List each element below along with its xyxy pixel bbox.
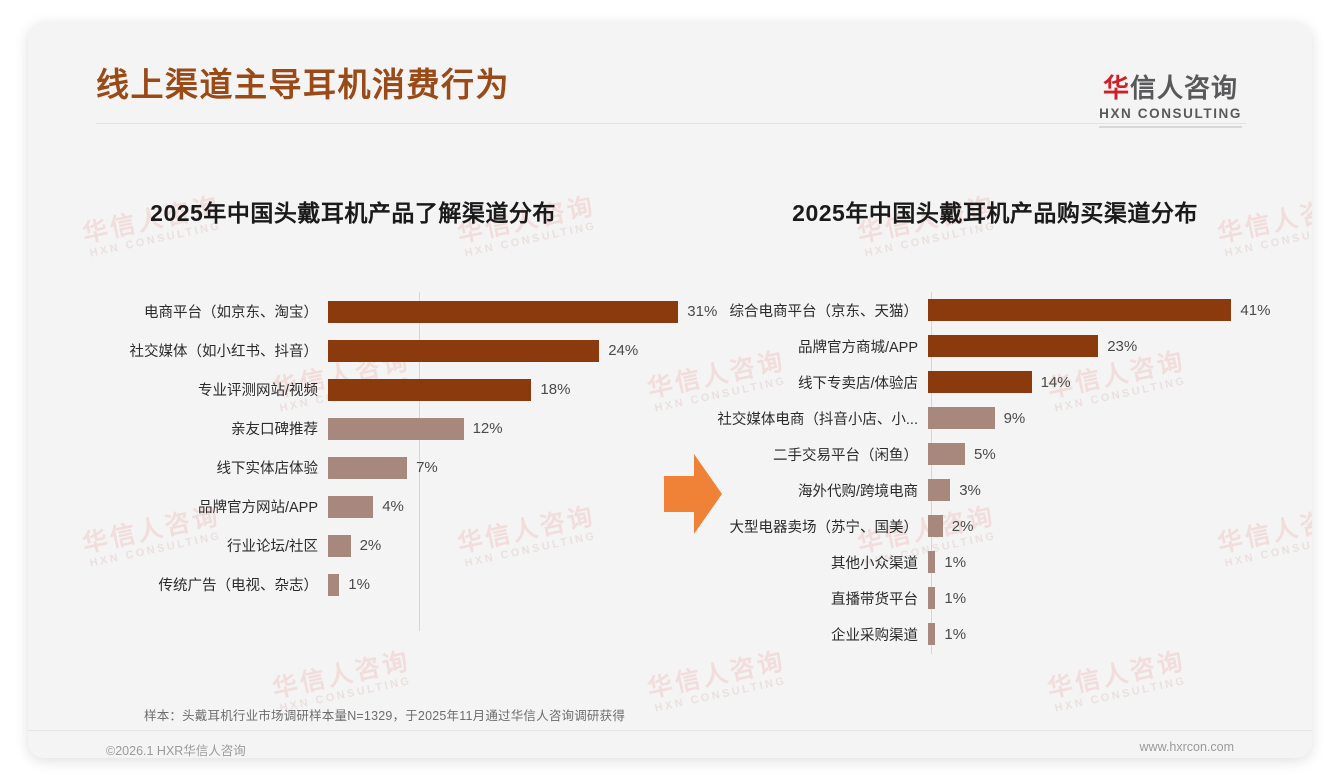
- sample-footnote: 样本：头戴耳机行业市场调研样本量N=1329，于2025年11月通过华信人咨询调…: [144, 705, 625, 724]
- chart-bar-row: 行业论坛/社区2%: [113, 526, 673, 565]
- bar: [928, 623, 935, 645]
- bar: [928, 515, 943, 537]
- bar-track: 1%: [928, 623, 1298, 645]
- bar: [928, 299, 1231, 321]
- slide-header: 线上渠道主导耳机消费行为 华信人咨询 HXN CONSULTING: [28, 22, 1312, 122]
- orange-right-arrow-icon: [664, 452, 722, 536]
- bar-value-label: 2%: [351, 537, 382, 554]
- bar-value-label: 1%: [935, 554, 966, 571]
- bar-value-label: 1%: [935, 590, 966, 607]
- bar: [928, 371, 1032, 393]
- bar-category-label: 综合电商平台（京东、天猫）: [678, 300, 928, 321]
- bar-track: 1%: [928, 587, 1298, 609]
- bar-category-label: 专业评测网站/视频: [113, 379, 328, 400]
- logo-accent-char: 华: [1103, 73, 1130, 103]
- bar: [328, 340, 599, 362]
- logo-chinese-text: 华信人咨询: [1099, 74, 1242, 104]
- bar-category-label: 行业论坛/社区: [113, 535, 328, 556]
- bar: [328, 457, 407, 479]
- bar-category-label: 社交媒体（如小红书、抖音）: [113, 340, 328, 361]
- chart-bar-row: 综合电商平台（京东、天猫）41%: [678, 292, 1298, 328]
- bar-track: 1%: [928, 551, 1298, 573]
- bar-track: 12%: [328, 418, 673, 440]
- bar: [328, 379, 531, 401]
- chart-rows-awareness: 电商平台（如京东、淘宝）31%社交媒体（如小红书、抖音）24%专业评测网站/视频…: [113, 292, 673, 604]
- chart-bar-row: 社交媒体（如小红书、抖音）24%: [113, 331, 673, 370]
- bar-value-label: 24%: [599, 342, 638, 359]
- chart-bar-row: 企业采购渠道1%: [678, 616, 1298, 652]
- bar-category-label: 品牌官方网站/APP: [113, 496, 328, 517]
- bar-value-label: 41%: [1231, 302, 1270, 319]
- bar: [328, 301, 678, 323]
- bar-track: 4%: [328, 496, 673, 518]
- bar-track: 41%: [928, 299, 1298, 321]
- bar-track: 9%: [928, 407, 1298, 429]
- chart-bar-row: 直播带货平台1%: [678, 580, 1298, 616]
- bar: [928, 587, 935, 609]
- logo-rest-chars: 信人咨询: [1130, 73, 1238, 103]
- bar: [928, 479, 950, 501]
- chart-bar-row: 传统广告（电视、杂志）1%: [113, 565, 673, 604]
- chart-bar-row: 其他小众渠道1%: [678, 544, 1298, 580]
- chart-bar-row: 品牌官方网站/APP4%: [113, 487, 673, 526]
- bar-value-label: 14%: [1032, 374, 1071, 391]
- bar-track: 14%: [928, 371, 1298, 393]
- bar-category-label: 品牌官方商城/APP: [678, 336, 928, 357]
- bar: [328, 496, 373, 518]
- bar-track: 5%: [928, 443, 1298, 465]
- bar: [928, 335, 1098, 357]
- logo-english-text: HXN CONSULTING: [1099, 106, 1242, 121]
- footer-website: www.hxrcon.com: [1140, 740, 1234, 754]
- chart-title-purchase: 2025年中国头戴耳机产品购买渠道分布: [678, 194, 1312, 228]
- bar-value-label: 7%: [407, 459, 438, 476]
- bar-value-label: 1%: [935, 626, 966, 643]
- bar: [328, 574, 339, 596]
- chart-bar-row: 品牌官方商城/APP23%: [678, 328, 1298, 364]
- chart-bar-row: 社交媒体电商（抖音小店、小...9%: [678, 400, 1298, 436]
- bar-track: 23%: [928, 335, 1298, 357]
- bar-track: 18%: [328, 379, 673, 401]
- bar-track: 2%: [928, 515, 1298, 537]
- bar-value-label: 12%: [464, 420, 503, 437]
- footer-divider: [28, 730, 1312, 731]
- logo-underline: [1099, 126, 1242, 128]
- bar-category-label: 传统广告（电视、杂志）: [113, 574, 328, 595]
- bar-category-label: 电商平台（如京东、淘宝）: [113, 301, 328, 322]
- chart-bar-row: 大型电器卖场（苏宁、国美）2%: [678, 508, 1298, 544]
- chart-bar-row: 线下专卖店/体验店14%: [678, 364, 1298, 400]
- chart-rows-purchase: 综合电商平台（京东、天猫）41%品牌官方商城/APP23%线下专卖店/体验店14…: [678, 292, 1298, 652]
- bar-track: 31%: [328, 301, 717, 323]
- chart-bar-row: 线下实体店体验7%: [113, 448, 673, 487]
- bar: [328, 535, 351, 557]
- bar: [928, 443, 965, 465]
- bar-track: 2%: [328, 535, 673, 557]
- chart-panel-purchase: 2025年中国头戴耳机产品购买渠道分布 综合电商平台（京东、天猫）41%品牌官方…: [678, 22, 1312, 758]
- bar: [928, 551, 935, 573]
- bar-category-label: 企业采购渠道: [678, 624, 928, 645]
- bar-track: 1%: [328, 574, 673, 596]
- bar-value-label: 23%: [1098, 338, 1137, 355]
- chart-bar-row: 海外代购/跨境电商3%: [678, 472, 1298, 508]
- bar-track: 24%: [328, 340, 673, 362]
- chart-bar-row: 电商平台（如京东、淘宝）31%: [113, 292, 673, 331]
- chart-panel-awareness: 2025年中国头戴耳机产品了解渠道分布 电商平台（如京东、淘宝）31%社交媒体（…: [28, 22, 678, 758]
- bar-value-label: 18%: [531, 381, 570, 398]
- chart-bar-row: 亲友口碑推荐12%: [113, 409, 673, 448]
- header-divider: [96, 123, 1246, 124]
- page-title: 线上渠道主导耳机消费行为: [96, 58, 510, 106]
- bar-category-label: 线下实体店体验: [113, 457, 328, 478]
- chart-bar-row: 专业评测网站/视频18%: [113, 370, 673, 409]
- bar-category-label: 社交媒体电商（抖音小店、小...: [678, 408, 928, 429]
- bar-value-label: 3%: [950, 482, 981, 499]
- footer-copyright: ©2026.1 HXR华信人咨询: [106, 740, 246, 758]
- bar-category-label: 亲友口碑推荐: [113, 418, 328, 439]
- bar-value-label: 5%: [965, 446, 996, 463]
- bar-value-label: 2%: [943, 518, 974, 535]
- bar: [928, 407, 995, 429]
- bar-track: 3%: [928, 479, 1298, 501]
- bar-category-label: 直播带货平台: [678, 588, 928, 609]
- bar-value-label: 9%: [995, 410, 1026, 427]
- chart-title-awareness: 2025年中国头戴耳机产品了解渠道分布: [28, 194, 678, 228]
- chart-bar-row: 二手交易平台（闲鱼）5%: [678, 436, 1298, 472]
- bar-value-label: 1%: [339, 576, 370, 593]
- bar-category-label: 其他小众渠道: [678, 552, 928, 573]
- bar-value-label: 4%: [373, 498, 404, 515]
- bar-category-label: 线下专卖店/体验店: [678, 372, 928, 393]
- bar-track: 7%: [328, 457, 673, 479]
- bar: [328, 418, 464, 440]
- slide-card: 华信人咨询HXN CONSULTING华信人咨询HXN CONSULTING华信…: [28, 22, 1312, 758]
- company-logo: 华信人咨询 HXN CONSULTING: [1099, 74, 1242, 128]
